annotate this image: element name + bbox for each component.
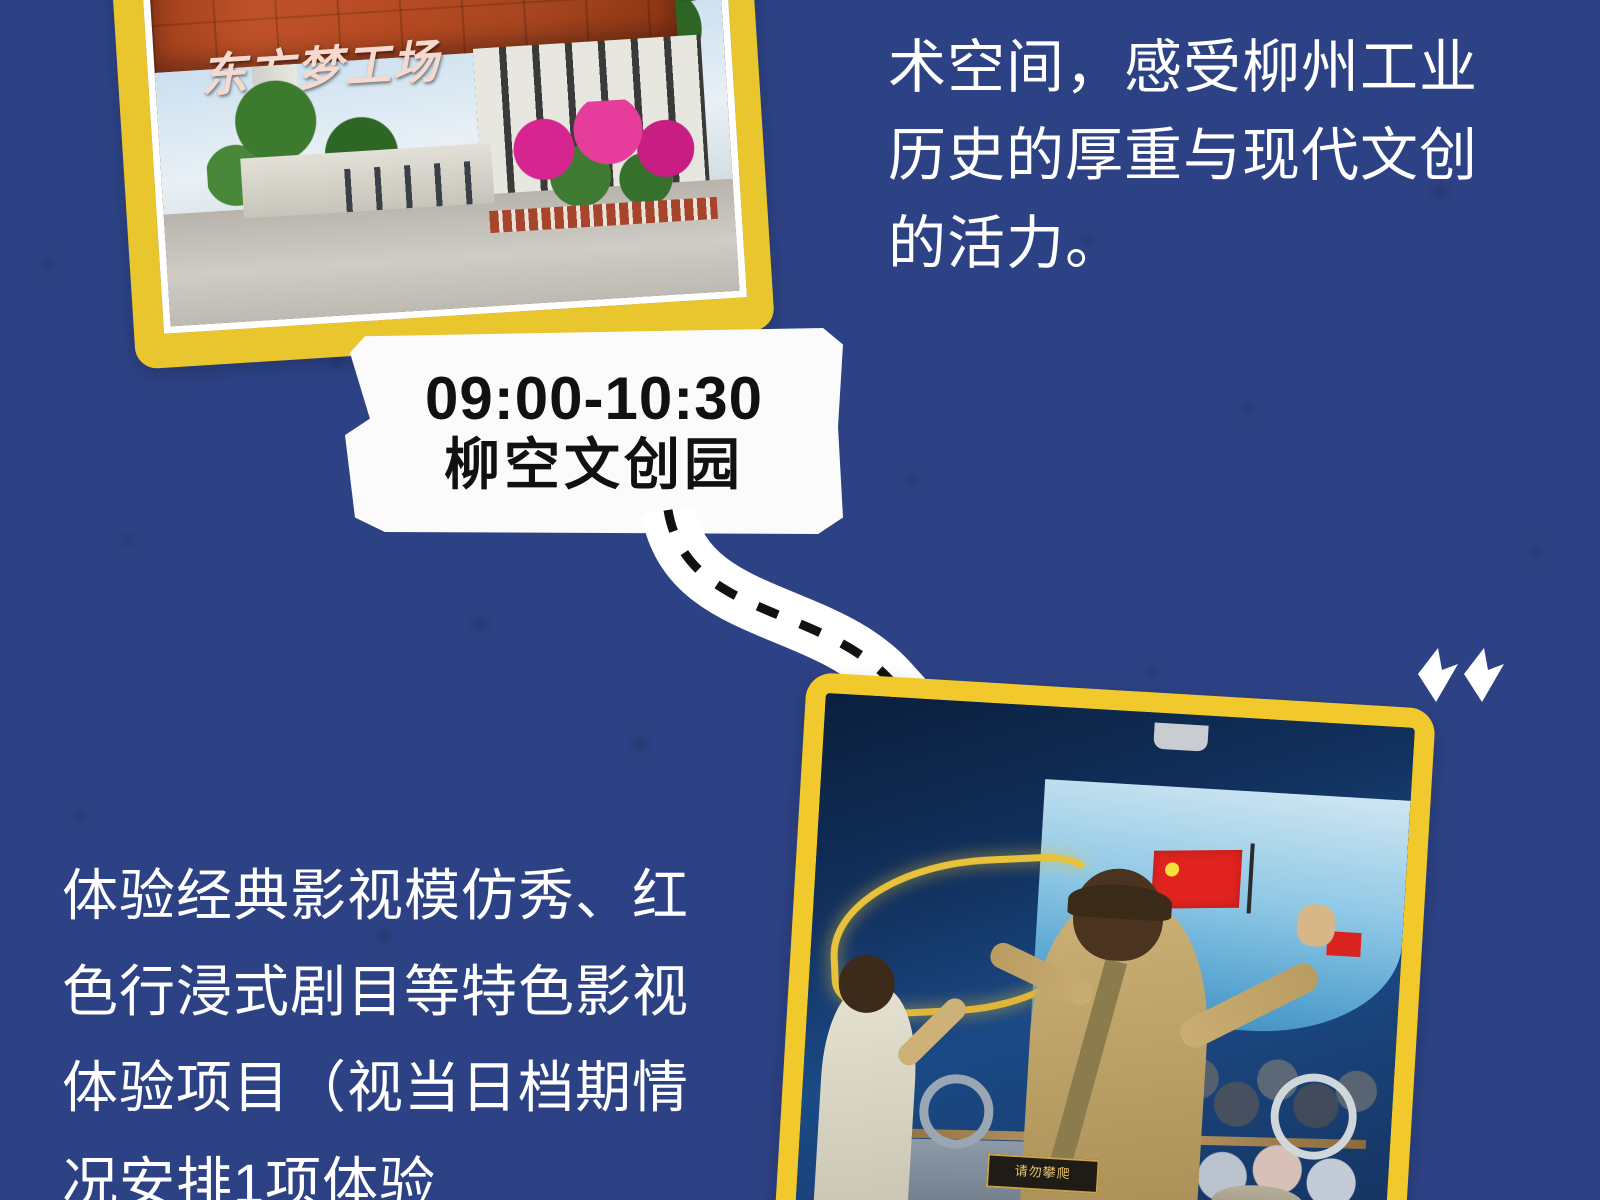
photo-card-gate: 东方梦工场 柳空文创园 [105, 0, 775, 370]
feature-paragraph: 体验经典影视模仿秀、红色行浸式剧目等特色影视体验项目（视当日档期情况安排1项体验 [62, 848, 722, 1200]
photo-gate-image: 东方梦工场 柳空文创园 [136, 0, 747, 334]
intro-paragraph: 术空间，感受柳州工业历史的厚重与现代文创的活力。 [888, 24, 1528, 288]
actor-main-fist [1296, 903, 1336, 947]
chevron-2 [1464, 648, 1504, 702]
photo-show-image: 请勿攀爬 [795, 693, 1415, 1200]
double-chevron-icon [1412, 640, 1512, 710]
chevron-1 [1418, 648, 1458, 702]
schedule-badge-place: 柳空文创园 [444, 436, 744, 495]
warning-sign-text: 请勿攀爬 [988, 1158, 1097, 1183]
warning-sign: 请勿攀爬 [986, 1153, 1100, 1194]
schedule-badge-time: 09:00-10:30 [425, 367, 763, 430]
ceiling-lamp [1154, 723, 1209, 752]
photo-card-show: 请勿攀爬 [774, 672, 1436, 1200]
